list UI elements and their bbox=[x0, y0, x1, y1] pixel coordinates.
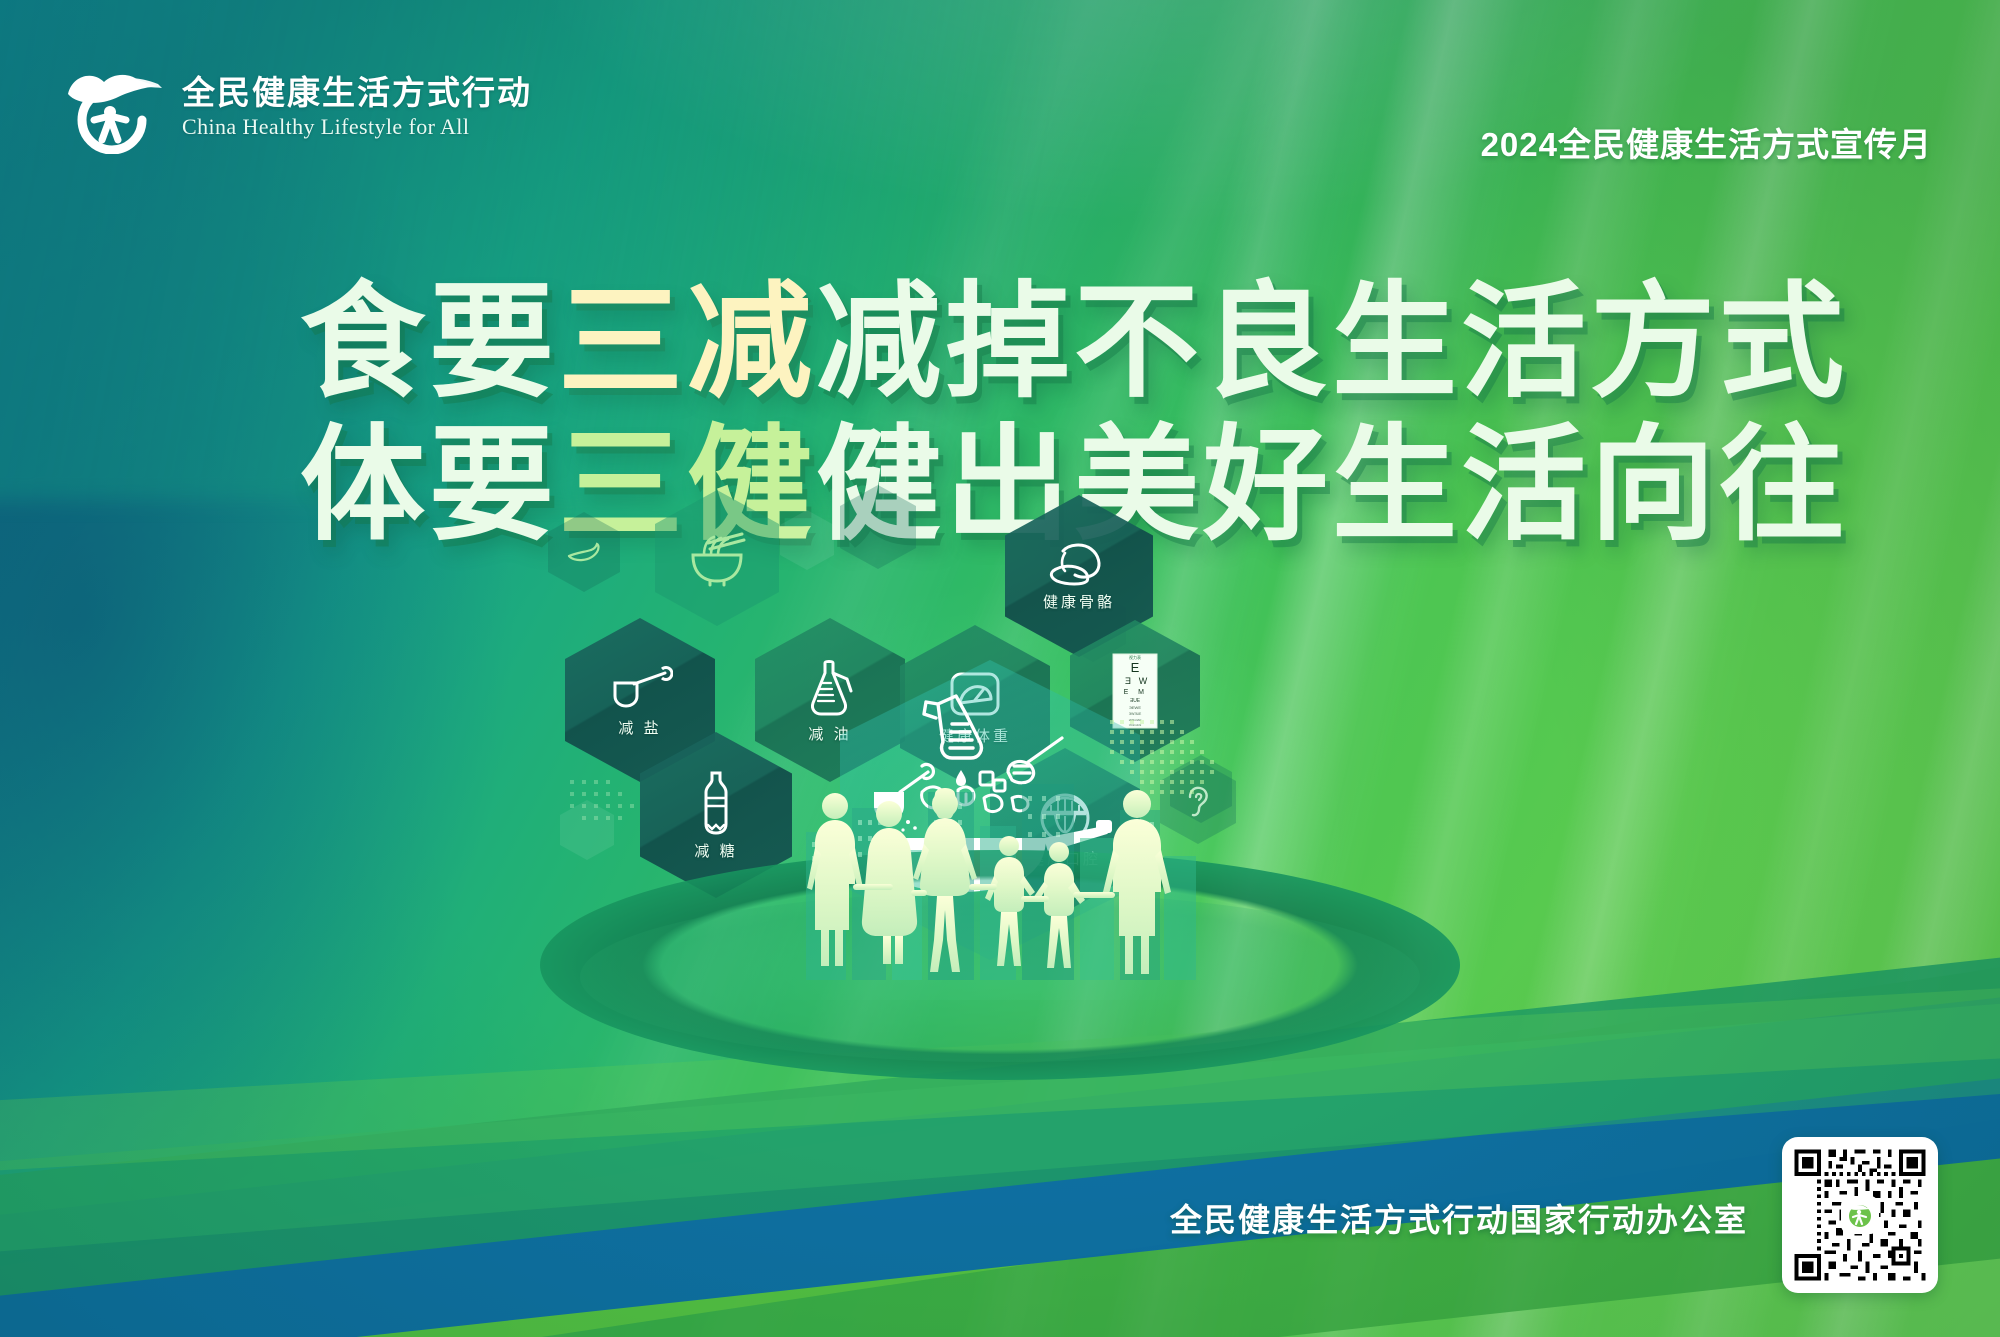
headline-2-tail: 健出美好生活向往 bbox=[816, 423, 1848, 548]
svg-text:M: M bbox=[1138, 689, 1144, 696]
svg-text:ƎUE: ƎUE bbox=[1130, 698, 1141, 704]
svg-text:ЭEWE: ЭEWE bbox=[1129, 705, 1141, 710]
campaign-month-tag: 2024全民健康生活方式宣传月 bbox=[1481, 118, 1932, 166]
logo-title-cn: 全民健康生活方式行动 bbox=[182, 76, 532, 109]
headline-2-lead: 体要 bbox=[300, 423, 558, 548]
salt-spoon-icon bbox=[607, 663, 673, 713]
hex-label: 减 糖 bbox=[694, 840, 737, 861]
running-person-logo-icon bbox=[58, 60, 166, 154]
headline-1-accent: 三减 bbox=[558, 280, 816, 405]
chili-pepper-icon bbox=[566, 540, 602, 564]
hex-label: 减 盐 bbox=[618, 717, 661, 738]
svg-text:Ǝ: Ǝ bbox=[1125, 676, 1131, 686]
svg-text:E: E bbox=[1124, 689, 1129, 696]
qr-matrix bbox=[1791, 1146, 1929, 1284]
svg-text:W: W bbox=[1139, 676, 1148, 686]
svg-text:ЭWƎUE: ЭWƎUE bbox=[1129, 712, 1142, 716]
brand-logo: 全民健康生活方式行动 China Healthy Lifestyle for A… bbox=[58, 60, 532, 154]
qr-code[interactable] bbox=[1782, 1137, 1938, 1293]
headline-1-lead: 食要 bbox=[300, 280, 558, 405]
headline-block: 食要 三减 减掉不良生活方式 体要 三健 健出美好生活向往 bbox=[300, 280, 1760, 548]
hex-icon-cluster: 减 盐 减 油 减 糖 bbox=[600, 600, 1400, 1160]
hex-label: 健康骨骼 bbox=[1043, 591, 1115, 612]
noodle-bowl-icon bbox=[684, 529, 750, 587]
poster-canvas: 全民健康生活方式行动 China Healthy Lifestyle for A… bbox=[0, 0, 2000, 1337]
qr-center-logo-icon bbox=[1843, 1198, 1877, 1232]
svg-text:E: E bbox=[1131, 660, 1140, 675]
pixel-dots-right bbox=[1110, 720, 1250, 835]
sugar-bottle-icon bbox=[694, 770, 738, 836]
flexed-arm-icon bbox=[1047, 541, 1111, 587]
headline-1-tail: 减掉不良生活方式 bbox=[816, 280, 1848, 405]
logo-title-en: China Healthy Lifestyle for All bbox=[182, 116, 532, 138]
headline-line-1: 食要 三减 减掉不良生活方式 bbox=[300, 280, 1760, 405]
oil-bottle-icon bbox=[801, 657, 859, 719]
pixel-dots-left bbox=[570, 780, 680, 875]
organization-label: 全民健康生活方式行动国家行动办公室 bbox=[1170, 1195, 1748, 1241]
